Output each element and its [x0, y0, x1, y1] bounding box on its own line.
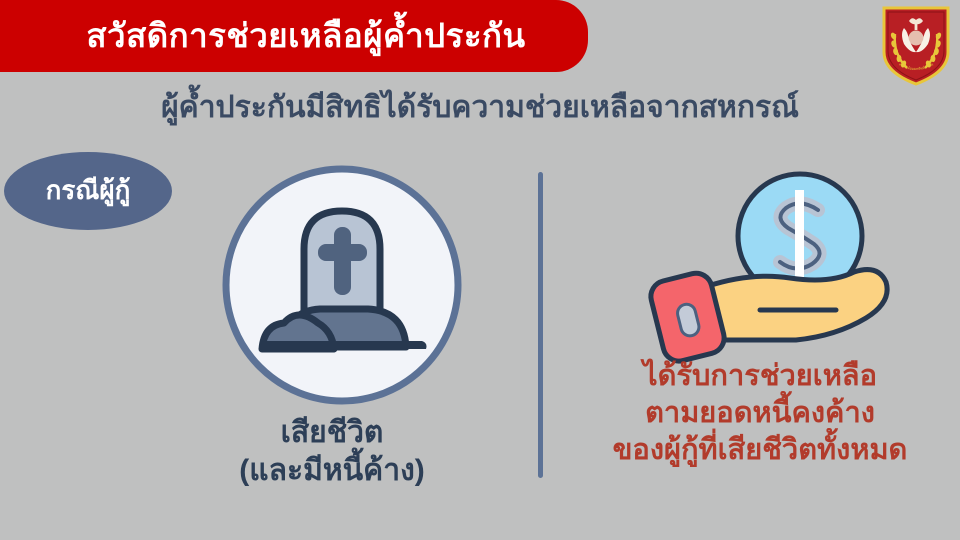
right-column-text: ได้รับการช่วยเหลือ ตามยอดหนี้คงค้าง ของผ… [560, 358, 960, 468]
case-badge: กรณีผู้กู้ [4, 152, 172, 230]
right-text-line-1: ได้รับการช่วยเหลือ [560, 358, 960, 395]
hand-holding-coin-icon [640, 168, 930, 368]
case-badge-label: กรณีผู้กู้ [46, 177, 131, 205]
left-caption-line-2: (และมีหนี้ค้าง) [182, 452, 482, 490]
tombstone-grave-icon [222, 165, 462, 405]
column-divider [538, 172, 543, 478]
left-column-caption: เสียชีวิต (และมีหนี้ค้าง) [182, 414, 482, 491]
right-text-line-2: ตามยอดหนี้คงค้าง [560, 395, 960, 432]
cooperative-shield-logo: สหกรณ์ออมทรัพย์ จำกัด [880, 4, 952, 88]
page-title: สวัสดิการช่วยเหลือผู้ค้ำประกัน [62, 18, 525, 54]
right-text-line-3: ของผู้กู้ที่เสียชีวิตทั้งหมด [560, 432, 960, 469]
slide-canvas: สวัสดิการช่วยเหลือผู้ค้ำประกัน [0, 0, 960, 540]
subtitle-text: ผู้ค้ำประกันมีสิทธิได้รับความช่วยเหลือจา… [0, 88, 960, 127]
left-caption-line-1: เสียชีวิต [182, 414, 482, 452]
title-banner: สวัสดิการช่วยเหลือผู้ค้ำประกัน [0, 0, 588, 72]
